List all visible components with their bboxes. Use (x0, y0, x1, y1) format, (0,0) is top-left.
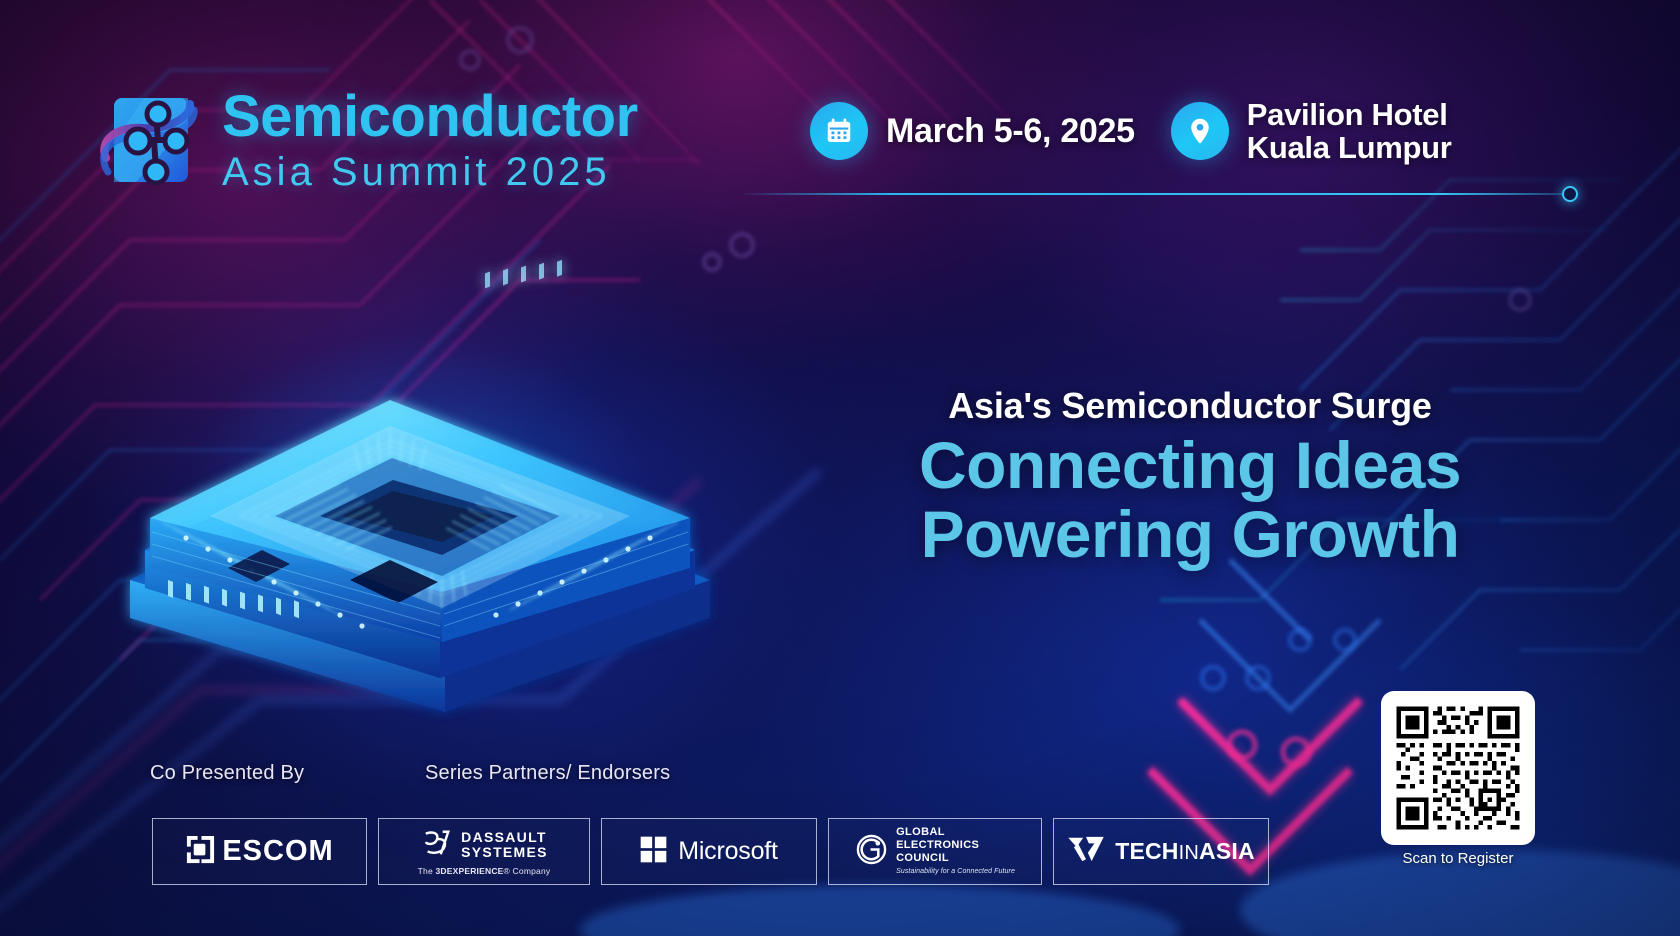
co-presented-by-label: Co Presented By (150, 762, 304, 785)
headline-block: Asia's Semiconductor Surge Connecting Id… (880, 385, 1500, 568)
location-pin-icon (1171, 102, 1229, 160)
headline-line-1: Connecting Ideas (880, 431, 1500, 500)
sponsor-logo-escom[interactable]: ESCOM (152, 818, 367, 885)
headline-main: Connecting Ideas Powering Growth (880, 431, 1500, 568)
sponsor-logo-global-electronics-council[interactable]: GLOBAL ELECTRONICS COUNCIL Sustainabilit… (828, 818, 1042, 885)
event-venue-text: Pavilion Hotel Kuala Lumpur (1247, 98, 1452, 165)
event-date-text: March 5-6, 2025 (886, 114, 1135, 149)
series-partners-label: Series Partners/ Endorsers (425, 762, 670, 785)
event-banner: Semiconductor Asia Summit 2025 (0, 0, 1680, 936)
sponsor-logo-microsoft[interactable]: Microsoft (601, 818, 817, 885)
gec-mark-icon (855, 833, 888, 871)
event-venue: Pavilion Hotel Kuala Lumpur (1171, 98, 1452, 165)
event-meta: March 5-6, 2025 Pavilion Hotel Kuala Lum… (810, 98, 1452, 165)
event-date: March 5-6, 2025 (810, 102, 1135, 160)
dassault-tagline: The 3DEXPERIENCE® Company (418, 866, 551, 876)
header-divider-endpoint (1562, 186, 1578, 202)
logo-subtitle: Asia Summit 2025 (222, 152, 638, 192)
logo-title: Semiconductor (222, 88, 638, 146)
gec-wordmark: GLOBAL ELECTRONICS COUNCIL Sustainabilit… (896, 826, 1015, 876)
dassault-3ds-mark-icon (420, 828, 454, 863)
tech-in-asia-mark-icon (1067, 835, 1105, 868)
sponsor-logo-dassault-systemes[interactable]: DASSAULT SYSTEMES The 3DEXPERIENCE® Comp… (378, 818, 590, 885)
calendar-icon (810, 102, 868, 160)
sponsor-logo-row: ESCOM DASSAULT SYSTEMES (152, 818, 1269, 885)
sponsor-logo-tech-in-asia[interactable]: TECHINASIA (1053, 818, 1269, 885)
header-divider-line (744, 193, 1566, 195)
event-logo: Semiconductor Asia Summit 2025 (96, 84, 638, 196)
microsoft-squares-icon (640, 836, 667, 868)
semiconductor-network-icon (96, 84, 208, 196)
semiconductor-chip-illustration (90, 250, 750, 710)
headline-eyebrow: Asia's Semiconductor Surge (880, 385, 1500, 427)
gec-tagline: Sustainability for a Connected Future (896, 868, 1015, 876)
tech-in-asia-wordmark: TECHINASIA (1115, 838, 1255, 865)
escom-wordmark: ESCOM (222, 835, 333, 868)
escom-mark-icon (185, 834, 216, 870)
qr-caption: Scan to Register (1381, 850, 1535, 867)
microsoft-wordmark: Microsoft (678, 837, 778, 866)
registration-qr-code[interactable] (1381, 691, 1535, 845)
headline-line-2: Powering Growth (880, 500, 1500, 569)
dassault-wordmark: DASSAULT SYSTEMES (461, 830, 548, 860)
